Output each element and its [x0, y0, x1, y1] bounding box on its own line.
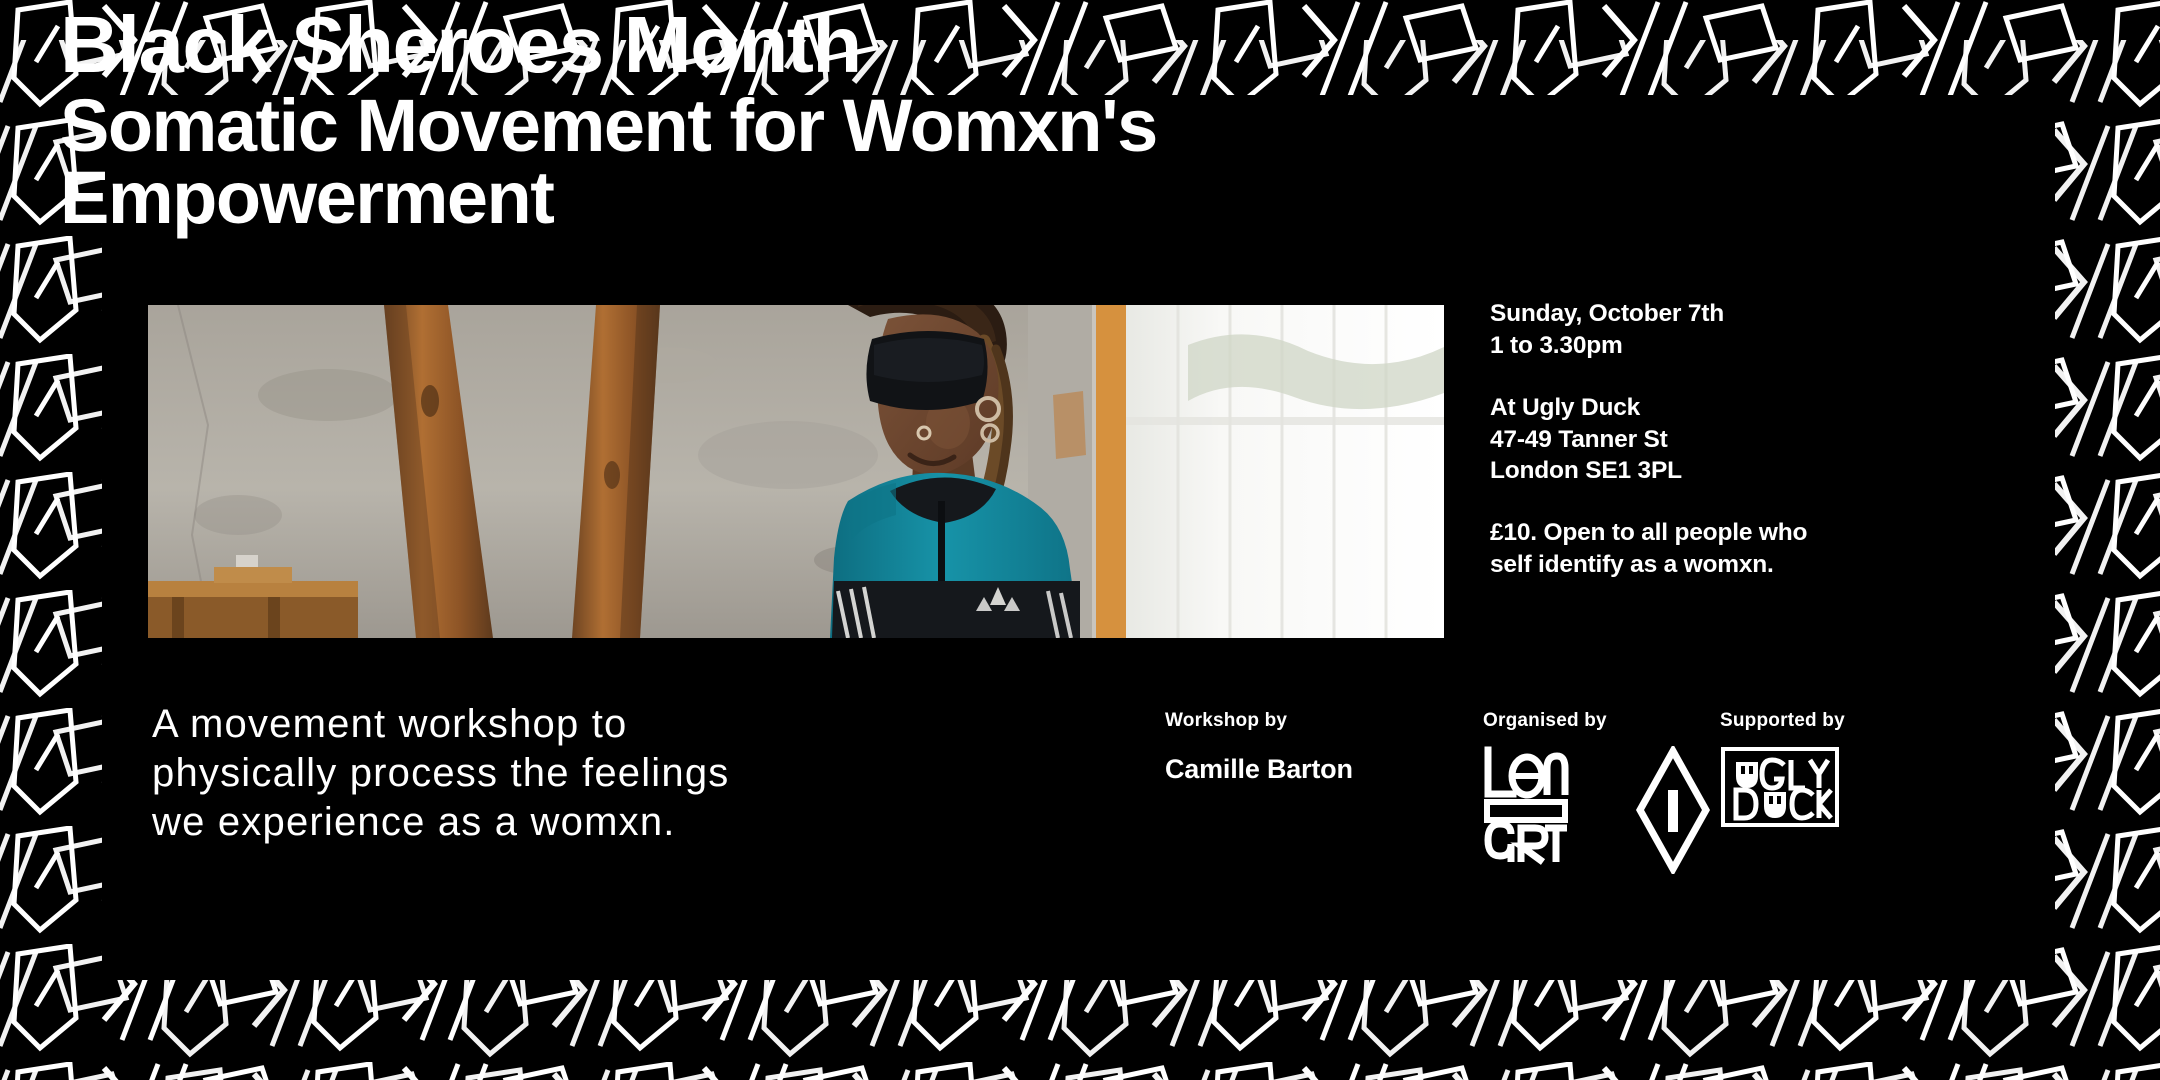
diamond-i-logo[interactable] [1635, 746, 1711, 874]
ugly-duck-logo[interactable] [1720, 746, 1840, 828]
credit-supported: Supported by [1720, 710, 1845, 732]
headline-line-1: Black Sheroes Month [60, 8, 1529, 82]
venue-name: At Ugly Duck [1490, 392, 1960, 424]
event-details: Sunday, October 7th 1 to 3.30pm At Ugly … [1490, 298, 1960, 581]
credit-organised: Organised by [1483, 710, 1607, 732]
description-line-3: we experience as a womxn. [152, 798, 1072, 847]
lon-art-logo[interactable] [1483, 746, 1569, 866]
venue-street: 47-49 Tanner St [1490, 424, 1960, 456]
price-line-1: £10. Open to all people who [1490, 517, 1960, 549]
venue-city-postcode: London SE1 3PL [1490, 455, 1960, 487]
event-datetime: Sunday, October 7th 1 to 3.30pm [1490, 298, 1960, 362]
description-line-2: physically process the feelings [152, 749, 1072, 798]
headline-line-3: Empowerment [60, 164, 1500, 232]
event-time: 1 to 3.30pm [1490, 330, 1960, 362]
price-line-2: self identify as a womxn. [1490, 549, 1960, 581]
credit-workshop: Workshop by Camille Barton [1165, 710, 1353, 785]
event-poster: Black Sheroes Month Somatic Movement for… [0, 0, 2160, 1080]
organised-by-label: Organised by [1483, 710, 1607, 732]
event-price-note: £10. Open to all people who self identif… [1490, 517, 1960, 581]
workshop-by-label: Workshop by [1165, 710, 1353, 732]
credits-row: Workshop by Camille Barton Organised by … [1165, 710, 1955, 890]
event-venue: At Ugly Duck 47-49 Tanner St London SE1 … [1490, 392, 1960, 488]
description-line-1: A movement workshop to [152, 700, 1072, 749]
page-title: Black Sheroes Month Somatic Movement for… [60, 8, 1500, 232]
workshop-facilitator-name: Camille Barton [1165, 754, 1353, 785]
event-date: Sunday, October 7th [1490, 298, 1960, 330]
supported-by-label: Supported by [1720, 710, 1845, 732]
event-photo [148, 305, 1444, 638]
headline-line-2: Somatic Movement for Womxn's [60, 92, 1500, 160]
event-description: A movement workshop to physically proces… [152, 700, 1072, 846]
